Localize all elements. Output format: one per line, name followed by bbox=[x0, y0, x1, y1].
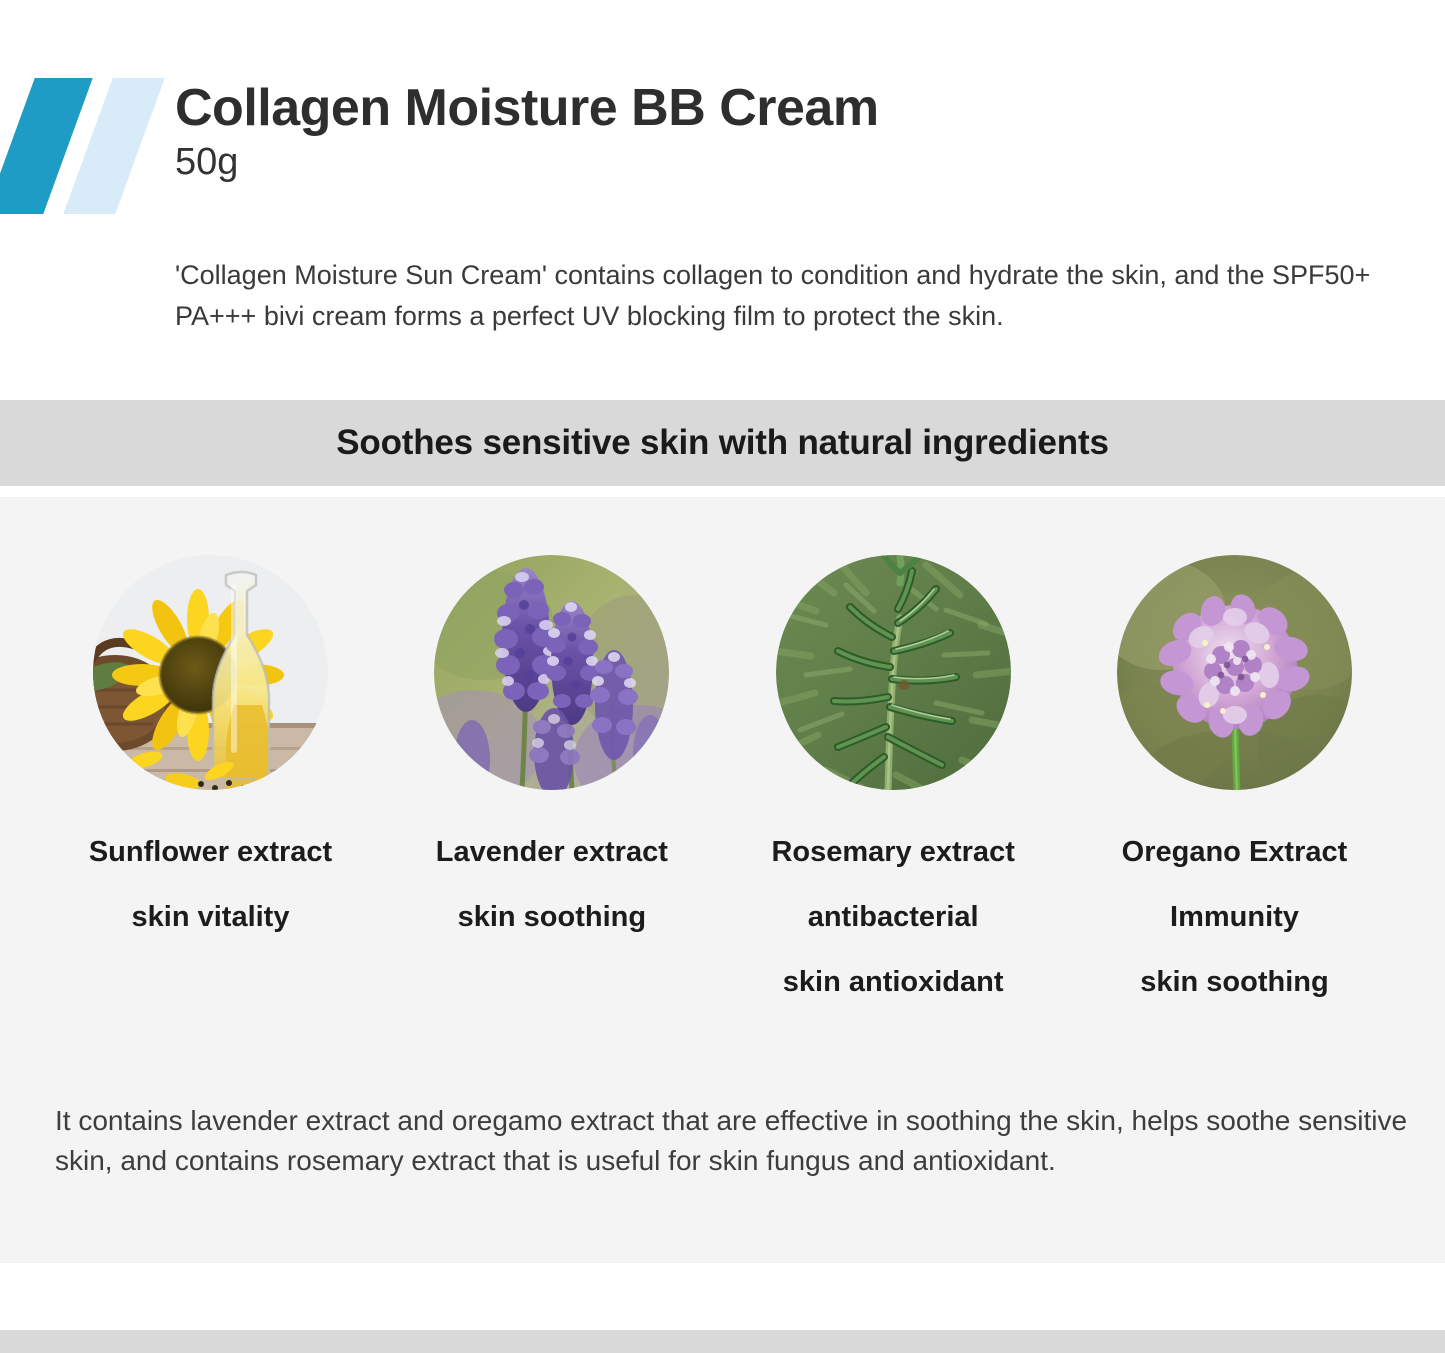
ingredient-card-oregano: Oregano Extract Immunity skin soothing bbox=[1064, 555, 1405, 997]
lavender-extract-photo bbox=[434, 555, 669, 790]
ingredient-caption: Lavender extract skin soothing bbox=[436, 838, 668, 932]
ingredient-caption: Oregano Extract Immunity skin soothing bbox=[1122, 838, 1348, 997]
ingredient-caption: Sunflower extract skin vitality bbox=[89, 838, 332, 932]
ingredient-name: Oregano Extract bbox=[1122, 838, 1348, 867]
section-banner: Soothes sensitive skin with natural ingr… bbox=[0, 400, 1445, 486]
double-slash-logo bbox=[0, 78, 150, 214]
product-title: Collagen Moisture BB Cream bbox=[175, 80, 1405, 136]
ingredient-benefit-1: Immunity bbox=[1122, 903, 1348, 932]
ingredient-name: Rosemary extract bbox=[771, 838, 1014, 867]
ingredient-benefit-1: skin vitality bbox=[89, 903, 332, 932]
section-banner-text: Soothes sensitive skin with natural ingr… bbox=[336, 423, 1108, 463]
ingredient-benefit-2: skin soothing bbox=[1122, 968, 1348, 997]
product-size: 50g bbox=[175, 142, 1405, 184]
ingredient-name: Lavender extract bbox=[436, 838, 668, 867]
ingredient-name: Sunflower extract bbox=[89, 838, 332, 867]
rosemary-extract-photo bbox=[776, 555, 1011, 790]
ingredients-summary-text: It contains lavender extract and oregamo… bbox=[55, 1101, 1410, 1181]
sunflower-extract-photo bbox=[93, 555, 328, 790]
ingredient-benefit-1: skin soothing bbox=[436, 903, 668, 932]
ingredient-benefit-1: antibacterial bbox=[771, 903, 1014, 932]
ingredient-card-rosemary: Rosemary extract antibacterial skin anti… bbox=[723, 555, 1064, 997]
ingredient-benefit-2: skin antioxidant bbox=[771, 968, 1014, 997]
footer-band bbox=[0, 1330, 1445, 1353]
oregano-extract-photo bbox=[1117, 555, 1352, 790]
ingredient-card-sunflower: Sunflower extract skin vitality bbox=[40, 555, 381, 932]
ingredient-grid: Sunflower extract skin vitality bbox=[40, 555, 1405, 997]
title-block: Collagen Moisture BB Cream 50g bbox=[175, 80, 1405, 184]
page-header: Collagen Moisture BB Cream 50g 'Collagen… bbox=[0, 0, 1445, 400]
ingredient-card-lavender: Lavender extract skin soothing bbox=[381, 555, 722, 932]
product-description: 'Collagen Moisture Sun Cream' contains c… bbox=[175, 255, 1437, 336]
ingredient-caption: Rosemary extract antibacterial skin anti… bbox=[771, 838, 1014, 997]
